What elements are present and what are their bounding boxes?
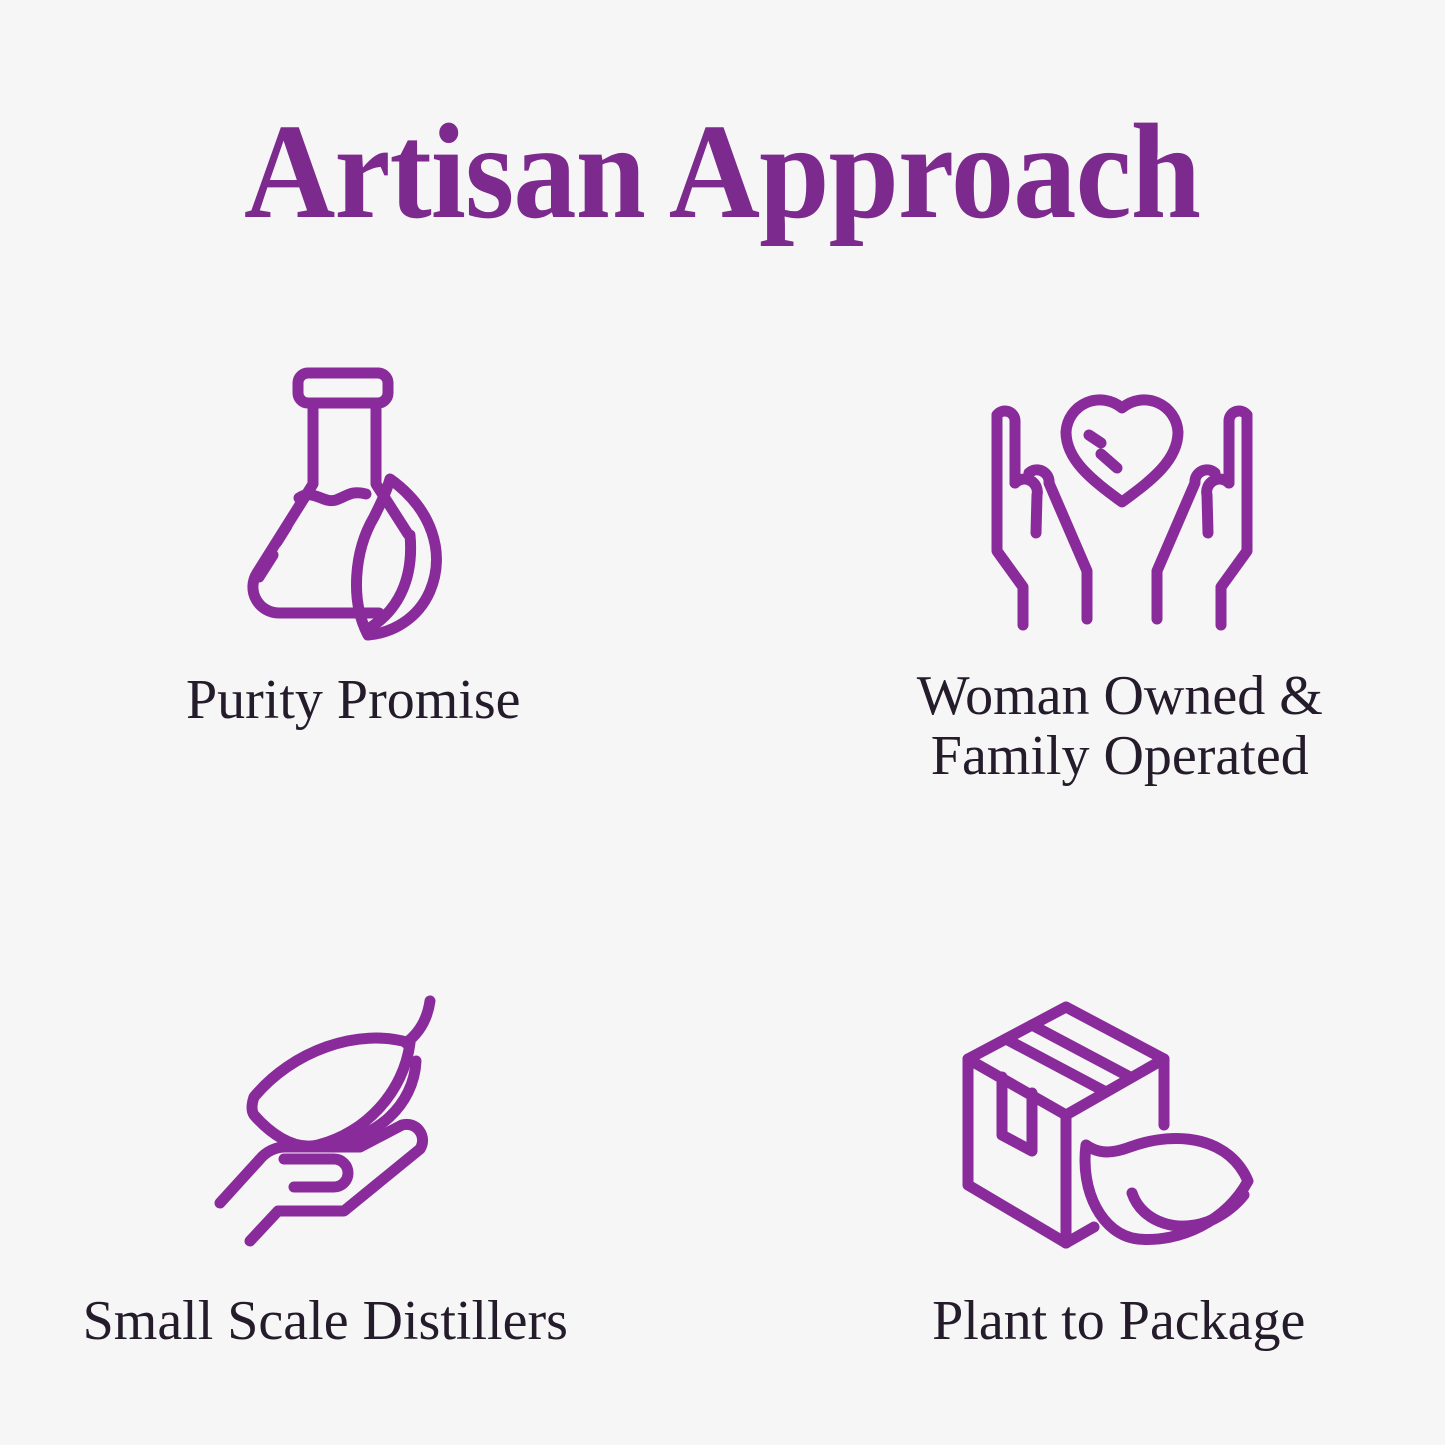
feature-item-woman-owned: Woman Owned & Family Operated (723, 340, 1445, 787)
page-title-container: Artisan Approach (0, 104, 1445, 240)
feature-label-plant-to-package: Plant to Package (932, 1291, 1305, 1351)
artisan-approach-panel: Artisan Approach (0, 0, 1445, 1445)
feature-grid: Purity Promise (0, 340, 1445, 1350)
hands-holding-heart-icon (972, 354, 1272, 644)
feature-label-small-scale-distillers: Small Scale Distillers (83, 1291, 568, 1351)
page-title: Artisan Approach (244, 104, 1200, 240)
feature-label-purity-promise: Purity Promise (186, 670, 520, 730)
feature-label-woman-owned: Woman Owned & Family Operated (917, 666, 1323, 787)
feature-item-small-scale-distillers: Small Scale Distillers (0, 787, 723, 1351)
feature-item-plant-to-package: Plant to Package (723, 787, 1445, 1351)
flask-leaf-icon (199, 354, 499, 644)
hand-holding-leaf-icon (188, 987, 488, 1257)
box-leaf-icon (954, 987, 1254, 1257)
feature-item-purity-promise: Purity Promise (0, 340, 723, 787)
